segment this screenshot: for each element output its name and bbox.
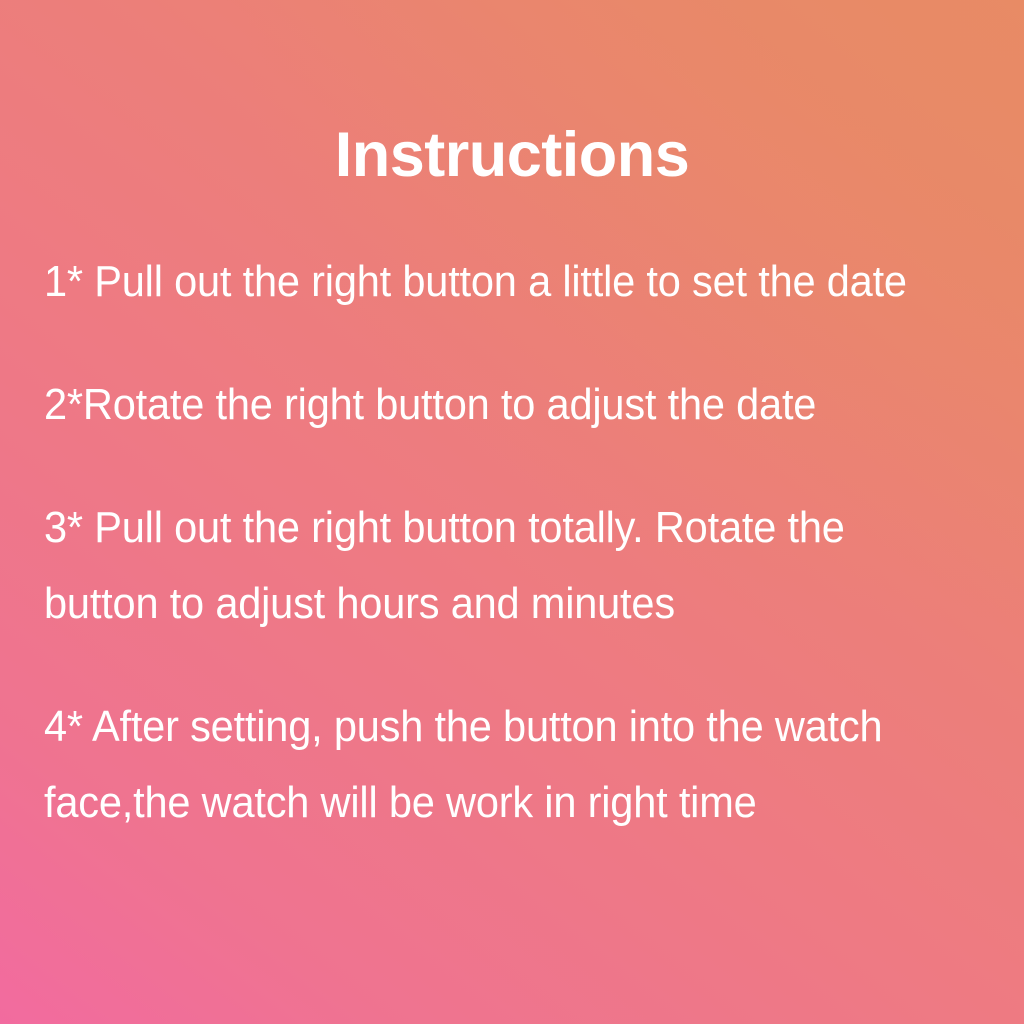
instructions-poster: Instructions 1* Pull out the right butto… (0, 0, 1024, 1024)
instruction-step-3: 3* Pull out the right button totally. Ro… (44, 490, 938, 642)
instruction-steps-list: 1* Pull out the right button a little to… (44, 244, 980, 841)
instruction-step-4: 4* After setting, push the button into t… (44, 689, 938, 841)
instruction-step-1: 1* Pull out the right button a little to… (44, 244, 938, 320)
instruction-step-2: 2*Rotate the right button to adjust the … (44, 367, 938, 443)
page-title: Instructions (44, 0, 980, 189)
poster-content: Instructions 1* Pull out the right butto… (0, 0, 1024, 1024)
